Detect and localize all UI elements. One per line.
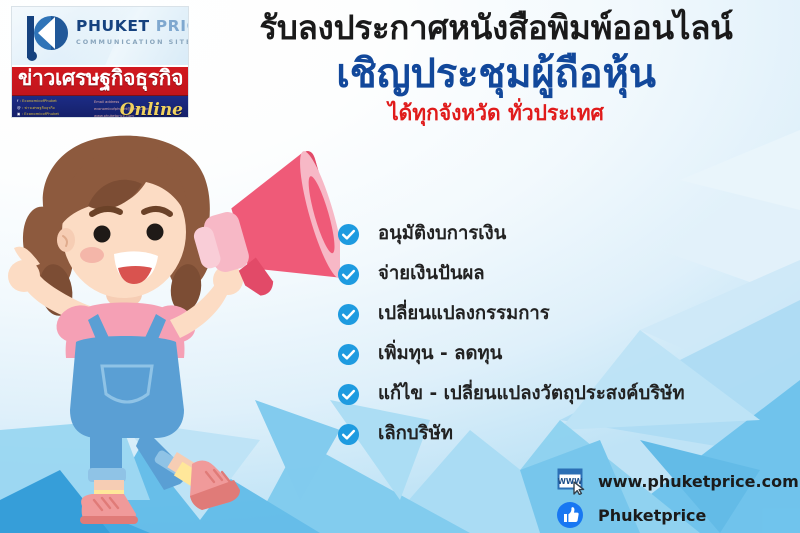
logo-header: PHUKET PRICE COMMUNICATION SITE (12, 7, 188, 65)
checklist-item-label: เปลี่ยนแปลงกรรมการ (378, 304, 550, 324)
facebook-page-name: Phuketprice (598, 506, 706, 525)
checklist-item: แก้ไข - เปลี่ยนแปลงวัตถุประสงค์บริษัท (337, 374, 767, 414)
logo-tagline: COMMUNICATION SITE (76, 38, 188, 46)
checklist-item-label: อนุมัติงบการเงิน (378, 224, 506, 244)
logo-social-lines: f : EconomicofPhuket @ : ข่าวเศรษฐกิจธุร… (17, 98, 59, 118)
logo-brand-secondary: PRICE (156, 17, 188, 35)
svg-text:WWW: WWW (558, 477, 584, 486)
checklist-item: อนุมัติงบการเงิน (337, 214, 767, 254)
checklist-item: จ่ายเงินปันผล (337, 254, 767, 294)
check-circle-icon (337, 423, 360, 446)
check-circle-icon (337, 263, 360, 286)
advertisement-banner: PHUKET PRICE COMMUNICATION SITE ข่าวเศรษ… (0, 0, 800, 533)
check-circle-icon (337, 343, 360, 366)
website-row[interactable]: WWW www.phuketprice.com (556, 464, 799, 498)
logo-wordmark: PHUKET PRICE COMMUNICATION SITE (76, 19, 188, 46)
headline-block: รับลงประกาศหนังสือพิมพ์ออนไลน์ เชิญประชุ… (196, 8, 796, 126)
service-checklist: อนุมัติงบการเงิน จ่ายเงินปันผล เปลี่ยนแป… (337, 214, 767, 454)
checklist-item: เปลี่ยนแปลงกรรมการ (337, 294, 767, 334)
checklist-item-label: จ่ายเงินปันผล (378, 264, 485, 284)
phuket-price-logo[interactable]: PHUKET PRICE COMMUNICATION SITE ข่าวเศรษ… (11, 6, 189, 118)
check-circle-icon (337, 223, 360, 246)
checklist-item-label: แก้ไข - เปลี่ยนแปลงวัตถุประสงค์บริษัท (378, 384, 685, 404)
checklist-item-label: เพิ่มทุน - ลดทุน (378, 344, 502, 364)
logo-contact-bar: f : EconomicofPhuket @ : ข่าวเศรษฐกิจธุร… (12, 95, 188, 118)
girl-with-megaphone-illustration (0, 128, 340, 533)
contact-block: WWW www.phuketprice.com Phuketprice (556, 464, 799, 532)
logo-online-script: Online (120, 102, 183, 118)
checklist-item: เพิ่มทุน - ลดทุน (337, 334, 767, 374)
k-logo-icon (21, 12, 73, 62)
check-circle-icon (337, 303, 360, 326)
headline-line-3: ได้ทุกจังหวัด ทั่วประเทศ (196, 101, 796, 126)
headline-line-1: รับลงประกาศหนังสือพิมพ์ออนไลน์ (196, 8, 796, 48)
logo-brand-primary: PHUKET (76, 17, 150, 35)
facebook-thumbs-up-icon (556, 501, 586, 529)
logo-masthead-bar: ข่าวเศรษฐกิจธุรกิจ f : EconomicofPhuket … (12, 65, 188, 118)
website-url: www.phuketprice.com (598, 472, 799, 491)
check-circle-icon (337, 383, 360, 406)
logo-thai-masthead: ข่าวเศรษฐกิจธุรกิจ (18, 68, 184, 89)
checklist-item: เลิกบริษัท (337, 414, 767, 454)
checklist-item-label: เลิกบริษัท (378, 424, 453, 444)
www-browser-icon: WWW (556, 467, 586, 495)
facebook-row[interactable]: Phuketprice (556, 498, 799, 532)
headline-line-2: เชิญประชุมผู้ถือหุ้น (196, 49, 796, 99)
